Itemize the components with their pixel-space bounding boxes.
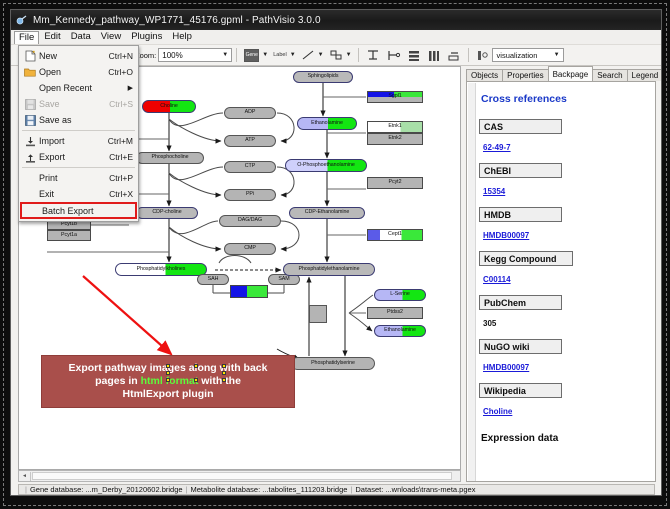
menu-bar[interactable]: File Edit Data View Plugins Help: [11, 30, 662, 45]
status-gene-database: Gene database: ...m_Derby_20120602.bridg…: [30, 485, 183, 494]
toolbar-divider-3: [468, 48, 469, 62]
node-adp[interactable]: ADP: [224, 107, 276, 119]
node-phosphatidylethanolamine[interactable]: Phosphatidylethanolamine: [283, 263, 375, 276]
blank-icon: [21, 81, 39, 95]
xref-db-pubchem: PubChem: [479, 295, 562, 310]
node-atp[interactable]: ATP: [224, 135, 276, 147]
menu-item-label: Save as: [39, 115, 133, 125]
menu-divider: [22, 130, 135, 131]
scrollbar-thumb[interactable]: [32, 472, 452, 480]
menu-item-label: Exit: [39, 189, 109, 199]
distribute-button[interactable]: [405, 48, 423, 63]
node-label: Sphingolipids: [308, 74, 339, 79]
tab-search[interactable]: Search: [592, 69, 627, 81]
menu-item-label: Import: [39, 136, 108, 146]
expression-data-heading: Expression data: [481, 433, 651, 444]
menu-item-shortcut: Ctrl+M: [108, 136, 138, 146]
menu-file[interactable]: File: [14, 31, 39, 44]
order-button[interactable]: [445, 48, 463, 63]
node-pcyt1a[interactable]: Pcyt1a: [47, 230, 91, 241]
xref-value-wikipedia[interactable]: Choline: [483, 407, 512, 416]
align-left-button[interactable]: [384, 48, 403, 63]
node-pcyt2[interactable]: Pcyt2: [367, 177, 423, 189]
backpage-content: Cross references CAS 62-49-7 ChEBI 15354…: [466, 81, 656, 482]
menu-view[interactable]: View: [96, 30, 126, 44]
stack-icon: [427, 49, 441, 62]
node-phosphatidylserine[interactable]: Phosphatidylserine: [291, 357, 375, 370]
node-label: Cept1: [388, 232, 402, 237]
menu-help[interactable]: Help: [167, 30, 197, 44]
node-o-phosphoethanolamine[interactable]: O-Phosphoethanolamine: [285, 159, 367, 172]
selection-handle[interactable]: [194, 364, 198, 368]
selection-handle[interactable]: [222, 378, 226, 382]
node-ethanolamine-2[interactable]: Ethanolamine: [374, 325, 426, 337]
gene-tool-chevron-down-icon[interactable]: ▼: [262, 52, 268, 58]
side-panel: Objects Properties Backpage Search Legen…: [466, 66, 656, 482]
xref-value-hmdb[interactable]: HMDB00097: [483, 231, 529, 240]
node-label: CDP-choline: [152, 210, 181, 215]
open-folder-icon: [21, 65, 39, 79]
toolbar-divider-2: [358, 48, 359, 62]
node-label: SAH: [208, 277, 219, 282]
node-label: CTP: [245, 164, 255, 169]
xref-value-kegg-compound[interactable]: C00114: [483, 275, 511, 284]
xref-db-wikipedia: Wikipedia: [479, 383, 562, 398]
submenu-chevron-right-icon: ▶: [128, 84, 138, 92]
menu-item-open[interactable]: Open Ctrl+O: [19, 64, 138, 80]
cross-references-section: Cross references CAS 62-49-7 ChEBI 15354…: [479, 88, 651, 444]
menu-item-open-recent[interactable]: Open Recent ▶: [19, 80, 138, 96]
order-icon: [447, 49, 461, 62]
backpage-scrollbar[interactable]: [468, 83, 476, 482]
visualization-icon: [476, 49, 489, 61]
save-disk-icon: [21, 97, 39, 111]
node-label: Etnk2: [388, 136, 401, 141]
menu-item-export[interactable]: Export Ctrl+E: [19, 149, 138, 165]
zoom-value: 100%: [162, 51, 182, 60]
node-phosphocholine[interactable]: Phosphocholine: [136, 152, 204, 164]
menu-edit[interactable]: Edit: [39, 30, 65, 44]
menu-item-shortcut: Ctrl+E: [109, 152, 138, 162]
side-panel-tabs[interactable]: Objects Properties Backpage Search Legen…: [466, 66, 656, 81]
node-ppi[interactable]: PPi: [224, 189, 276, 201]
menu-item-label: New: [39, 51, 109, 61]
visualization-combobox[interactable]: visualization ▼: [492, 48, 564, 62]
callout-line-2-b: with the: [198, 375, 241, 387]
annotation-arrow-icon: [79, 272, 189, 367]
node-label: DAG/DAG: [238, 218, 262, 223]
node-reaction-box[interactable]: [309, 305, 327, 323]
menu-item-label: Export: [39, 152, 109, 162]
shape-tool-chevron-down-icon[interactable]: ▼: [346, 52, 352, 58]
menu-item-import[interactable]: Import Ctrl+M: [19, 133, 138, 149]
scroll-left-button[interactable]: ◄: [19, 472, 31, 481]
stack-button[interactable]: [425, 48, 443, 63]
line-tool-chevron-down-icon[interactable]: ▼: [318, 52, 324, 58]
blank-icon: [24, 204, 42, 218]
label-icon: Label: [273, 52, 286, 58]
status-separator-2: |: [186, 485, 188, 494]
selection-handle[interactable]: [222, 371, 226, 375]
selection-handle[interactable]: [194, 378, 198, 382]
align-top-button[interactable]: [364, 48, 382, 63]
pathvisio-window: Mm_Kennedy_pathway_WP1771_45176.gpml - P…: [10, 9, 662, 496]
blank-icon: [21, 171, 39, 185]
status-bar: | Gene database: ...m_Derby_20120602.bri…: [18, 484, 655, 495]
visualization-value: visualization: [497, 51, 538, 60]
node-etnk1[interactable]: Etnk1: [367, 121, 423, 133]
label-tool-chevron-down-icon[interactable]: ▼: [290, 52, 296, 58]
node-label: Choline: [160, 104, 178, 109]
selection-handle[interactable]: [166, 371, 170, 375]
label-tool-button[interactable]: Label: [271, 48, 288, 63]
menu-item-shortcut: Ctrl+P: [109, 173, 138, 183]
tab-legend[interactable]: Legend: [627, 69, 662, 81]
node-ctp[interactable]: CTP: [224, 161, 276, 173]
zoom-combobox[interactable]: 100% ▼: [158, 48, 232, 62]
shape-tool-icon: [329, 49, 343, 61]
node-label: CMP: [244, 246, 256, 251]
node-label: ADP: [245, 110, 256, 115]
visualization-legend-button[interactable]: [474, 48, 491, 63]
node-l-serine[interactable]: L-Serine: [374, 289, 426, 301]
node-label: ATP: [245, 138, 255, 143]
screenshot-root: Mm_Kennedy_pathway_WP1771_45176.gpml - P…: [0, 0, 670, 509]
xref-value-pubchem: 305: [483, 319, 496, 328]
menu-item-exit[interactable]: Exit Ctrl+X: [19, 186, 138, 202]
new-document-icon: [21, 49, 39, 63]
menu-item-shortcut: Ctrl+N: [109, 51, 138, 61]
xref-value-cas[interactable]: 62-49-7: [483, 143, 511, 152]
menu-item-save-as[interactable]: Save as: [19, 112, 138, 128]
node-label: Ethanolamine: [384, 328, 416, 333]
node-label: Pcyt2: [389, 180, 402, 185]
align-top-icon: [366, 49, 380, 62]
status-separator-3: |: [350, 485, 352, 494]
node-label: Phosphatidylserine: [311, 361, 355, 366]
distribute-icon: [407, 49, 421, 62]
menu-item-print[interactable]: Print Ctrl+P: [19, 170, 138, 186]
save-as-disk-icon: [21, 113, 39, 127]
menu-plugins[interactable]: Plugins: [126, 30, 167, 44]
node-ptdss2[interactable]: Ptdss2: [367, 307, 423, 319]
blank-icon: [21, 187, 39, 201]
callout-line-2-a: pages in: [95, 375, 141, 387]
selection-handle[interactable]: [222, 364, 226, 368]
node-sah[interactable]: SAH: [197, 274, 229, 285]
xref-value-nugo-wiki[interactable]: HMDB00097: [483, 363, 529, 372]
xref-db-chebi: ChEBI: [479, 163, 562, 178]
menu-divider-2: [22, 167, 135, 168]
shape-tool-button[interactable]: [327, 48, 345, 63]
callout-line-3: HtmlExport plugin: [123, 388, 214, 401]
node-sphingolipids[interactable]: Sphingolipids: [293, 71, 353, 83]
node-label: O-Phosphoethanolamine: [297, 163, 355, 168]
status-separator: |: [25, 485, 27, 494]
canvas-horizontal-scrollbar[interactable]: ◄: [18, 470, 461, 482]
chevron-down-icon: ▼: [219, 49, 231, 61]
node-label: Ptdss2: [387, 310, 403, 315]
node-pcyt-marker[interactable]: [230, 285, 268, 298]
xref-db-cas: CAS: [479, 119, 562, 134]
node-label: CDP-Ethanolamine: [305, 210, 350, 215]
node-cdp-choline[interactable]: CDP-choline: [136, 207, 198, 219]
node-dag[interactable]: DAG/DAG: [219, 215, 281, 227]
line-tool-button[interactable]: [299, 48, 317, 63]
node-label: Phosphatidylethanolamine: [299, 267, 360, 272]
menu-data[interactable]: Data: [66, 30, 96, 44]
node-label: PPi: [246, 192, 254, 197]
menu-item-save: Save Ctrl+S: [19, 96, 138, 112]
node-label: Phosphocholine: [152, 155, 189, 160]
menu-item-label: Batch Export: [42, 206, 135, 216]
visualization-chevron-down-icon: ▼: [551, 49, 563, 61]
menu-item-label: Save: [39, 99, 109, 109]
cross-references-heading: Cross references: [481, 93, 651, 105]
title-bar: Mm_Kennedy_pathway_WP1771_45176.gpml - P…: [11, 10, 662, 30]
window-title: Mm_Kennedy_pathway_WP1771_45176.gpml - P…: [33, 15, 321, 26]
gene-tool-button[interactable]: Gene: [242, 48, 261, 63]
menu-item-batch-export[interactable]: Batch Export: [20, 202, 137, 219]
pathvisio-icon: [16, 14, 28, 26]
status-metabolite-database: Metabolite database: ...tabolites_111203…: [191, 485, 348, 494]
node-ethanolamine[interactable]: Ethanolamine: [297, 117, 357, 130]
node-cdp-ethanolamine[interactable]: CDP-Ethanolamine: [289, 207, 365, 219]
tab-backpage[interactable]: Backpage: [548, 66, 594, 81]
xref-value-chebi[interactable]: 15354: [483, 187, 505, 196]
tab-objects[interactable]: Objects: [466, 69, 503, 81]
node-choline[interactable]: Choline: [142, 100, 196, 113]
status-dataset: Dataset: ...wnloads\trans-meta.pgex: [355, 485, 475, 494]
node-cept1[interactable]: Cept1: [367, 229, 423, 241]
tab-properties[interactable]: Properties: [502, 69, 548, 81]
selection-handle[interactable]: [166, 378, 170, 382]
node-label: SAM: [278, 277, 289, 282]
align-left-icon: [386, 49, 401, 62]
menu-item-label: Open Recent: [39, 83, 128, 93]
menu-item-new[interactable]: New Ctrl+N: [19, 48, 138, 64]
xref-db-hmdb: HMDB: [479, 207, 562, 222]
node-label: Etnk1: [388, 124, 401, 129]
node-label: Ethanolamine: [311, 121, 343, 126]
menu-item-label: Print: [39, 173, 109, 183]
import-icon: [21, 134, 39, 148]
menu-item-shortcut: Ctrl+O: [108, 67, 138, 77]
node-label: Pcyt1a: [61, 233, 77, 238]
selection-handle[interactable]: [166, 364, 170, 368]
node-cmp[interactable]: CMP: [224, 243, 276, 255]
node-etnk2[interactable]: Etnk2: [367, 133, 423, 145]
export-icon: [21, 150, 39, 164]
toolbar-divider: [236, 48, 237, 62]
xref-db-kegg-compound: Kegg Compound: [479, 251, 573, 266]
node-label: Pcyt1b: [61, 222, 77, 227]
gene-icon: Gene: [244, 49, 259, 62]
file-menu-dropdown[interactable]: New Ctrl+N Open Ctrl+O Open Recent ▶ Sav: [18, 45, 139, 222]
menu-item-shortcut: Ctrl+S: [109, 99, 138, 109]
menu-item-label: Open: [39, 67, 108, 77]
line-tool-icon: [301, 49, 315, 61]
xref-db-nugo-wiki: NuGO wiki: [479, 339, 562, 354]
menu-item-shortcut: Ctrl+X: [109, 189, 138, 199]
node-label: L-Serine: [390, 292, 410, 297]
node-label: Sgpl1: [388, 94, 401, 99]
